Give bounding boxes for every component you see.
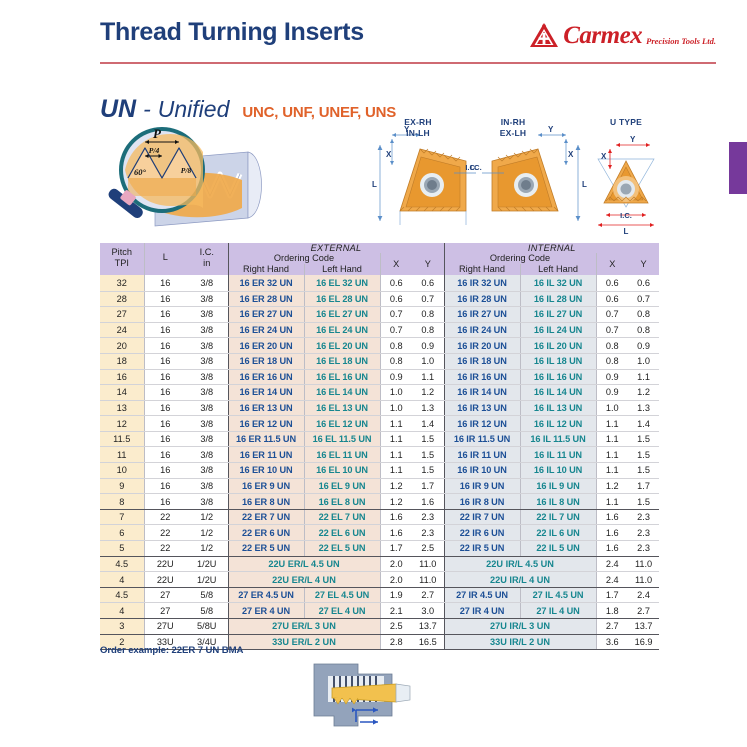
cell-ext-right-hand: 16 ER 9 UN [228, 478, 304, 494]
diagram-label-in-rh: IN-RHEX-LH [478, 117, 548, 138]
svg-text:X: X [568, 150, 574, 159]
cell-ext-y: 11.0 [412, 572, 444, 588]
cell-ic: 1/2U [186, 572, 228, 588]
cell-ic: 3/8 [186, 369, 228, 385]
cell-int-right-hand: 16 IR 18 UN [444, 353, 520, 369]
cell-int-x: 1.0 [596, 400, 628, 416]
table-row: 4.5275/827 ER 4.5 UN27 EL 4.5 UN1.92.727… [100, 587, 659, 603]
cell-ic: 3/8 [186, 447, 228, 463]
cell-ic: 5/8 [186, 603, 228, 619]
cell-ext-right-hand: 16 ER 8 UN [228, 494, 304, 510]
cell-ext-y: 0.8 [412, 322, 444, 338]
cell-int-left-hand: 16 IL 14 UN [520, 385, 596, 401]
cell-pitch: 24 [100, 322, 144, 338]
insert-geometry-diagrams: X Y L I.C. X [358, 115, 658, 235]
cell-ext-left-hand: 27 EL 4 UN [304, 603, 380, 619]
table-row: 4.522U1/2U22U ER/L 4.5 UN2.011.022U IR/L… [100, 556, 659, 572]
col-header-ext-y: Y [412, 253, 444, 275]
svg-text:L: L [582, 180, 587, 189]
table-row: 27163/816 ER 27 UN16 EL 27 UN0.70.816 IR… [100, 307, 659, 323]
cell-ext-y: 0.9 [412, 338, 444, 354]
cell-ext-right-hand: 22 ER 7 UN [228, 509, 304, 525]
cell-ic: 3/8 [186, 385, 228, 401]
cell-ext-x: 0.9 [380, 369, 412, 385]
svg-text:P/8: P/8 [181, 166, 192, 175]
cell-int-left-hand: 16 IL 27 UN [520, 307, 596, 323]
cell-l: 22 [144, 525, 186, 541]
cell-l: 16 [144, 369, 186, 385]
cell-l: 16 [144, 463, 186, 479]
cell-pitch: 8 [100, 494, 144, 510]
cell-int-x: 1.1 [596, 416, 628, 432]
cell-ic: 3/8 [186, 291, 228, 307]
cell-int-x: 1.1 [596, 463, 628, 479]
cell-pitch: 4.5 [100, 556, 144, 572]
cell-pitch: 3 [100, 619, 144, 635]
cell-ext-left-hand: 16 EL 8 UN [304, 494, 380, 510]
cell-ext-y: 2.3 [412, 509, 444, 525]
cell-int-left-hand: 16 IL 20 UN [520, 338, 596, 354]
cell-ext-x: 1.6 [380, 525, 412, 541]
col-header-internal: INTERNAL [444, 243, 659, 253]
cell-ext-x: 0.7 [380, 307, 412, 323]
cell-l: 22 [144, 509, 186, 525]
cell-int-left-hand: 16 IL 24 UN [520, 322, 596, 338]
cell-int-x: 1.6 [596, 509, 628, 525]
col-header-int-y: Y [628, 253, 659, 275]
table-row: 7221/222 ER 7 UN22 EL 7 UN1.62.322 IR 7 … [100, 509, 659, 525]
cell-ic: 5/8 [186, 587, 228, 603]
cell-int-y: 1.7 [628, 478, 659, 494]
cell-int-x: 1.6 [596, 525, 628, 541]
cell-pitch: 10 [100, 463, 144, 479]
cell-pitch: 16 [100, 369, 144, 385]
cell-ext-y: 1.6 [412, 494, 444, 510]
svg-text:P/4: P/4 [149, 146, 160, 155]
cell-int-right-hand: 16 IR 28 UN [444, 291, 520, 307]
cell-int-right-hand: 22 IR 6 UN [444, 525, 520, 541]
cell-ext-y: 1.2 [412, 385, 444, 401]
cell-int-right-hand: 16 IR 8 UN [444, 494, 520, 510]
table-header-group-row: PitchTPI L I.C.in EXTERNAL INTERNAL [100, 243, 659, 253]
cell-int-y: 1.3 [628, 400, 659, 416]
cell-int-left-hand: 27 IL 4.5 UN [520, 587, 596, 603]
cell-ic: 3/8 [186, 494, 228, 510]
cell-int-left-hand: 16 IL 12 UN [520, 416, 596, 432]
cell-pitch: 13 [100, 400, 144, 416]
cell-int-right-hand: 16 IR 32 UN [444, 275, 520, 291]
catalog-page: Thread Turning Inserts Carmex Precision … [0, 0, 747, 747]
cell-ext-left-hand: 16 EL 16 UN [304, 369, 380, 385]
cell-ic: 3/8 [186, 416, 228, 432]
cell-int-right-hand: 16 IR 9 UN [444, 478, 520, 494]
cell-int-y: 2.4 [628, 587, 659, 603]
cell-ext-left-hand: 16 EL 11.5 UN [304, 431, 380, 447]
table-row: 422U1/2U22U ER/L 4 UN2.011.022U IR/L 4 U… [100, 572, 659, 588]
cell-int-y: 0.7 [628, 291, 659, 307]
cell-l: 16 [144, 478, 186, 494]
table-row: 20163/816 ER 20 UN16 EL 20 UN0.80.916 IR… [100, 338, 659, 354]
cell-pitch: 7 [100, 509, 144, 525]
table-row: 11163/816 ER 11 UN16 EL 11 UN1.11.516 IR… [100, 447, 659, 463]
cell-ext-x: 2.0 [380, 572, 412, 588]
cell-int-left-hand: 16 IL 28 UN [520, 291, 596, 307]
diagram-in-rh: X Y L I.C. [465, 125, 587, 221]
cell-int-right-hand: 16 IR 20 UN [444, 338, 520, 354]
cell-ext-right-hand: 16 ER 14 UN [228, 385, 304, 401]
cell-ext-left-hand: 22 EL 6 UN [304, 525, 380, 541]
diagram-ex-rh: X Y L I.C. [372, 125, 482, 225]
cell-int-left-hand: 16 IL 11.5 UN [520, 431, 596, 447]
brand-tagline: Precision Tools Ltd. [646, 37, 716, 49]
cell-ext-y: 2.5 [412, 541, 444, 557]
cell-l: 22U [144, 556, 186, 572]
cell-ext-y: 3.0 [412, 603, 444, 619]
cell-int-x: 3.6 [596, 634, 628, 650]
col-header-ext-ordering-code: Ordering Code [228, 253, 380, 264]
cell-ic: 1/2 [186, 525, 228, 541]
col-header-pitch: PitchTPI [100, 243, 144, 275]
cell-int-y: 1.1 [628, 369, 659, 385]
table-row: 13163/816 ER 13 UN16 EL 13 UN1.01.316 IR… [100, 400, 659, 416]
cell-int-left-hand: 16 IL 18 UN [520, 353, 596, 369]
cell-int-right-hand: 27 IR 4.5 UN [444, 587, 520, 603]
svg-text:L: L [372, 180, 377, 189]
cell-pitch: 5 [100, 541, 144, 557]
cell-int-y: 13.7 [628, 619, 659, 635]
cell-int-y: 2.3 [628, 509, 659, 525]
cell-int-ordering-code: 22U IR/L 4.5 UN [444, 556, 596, 572]
cell-ext-y: 1.0 [412, 353, 444, 369]
table-row: 5221/222 ER 5 UN22 EL 5 UN1.72.522 IR 5 … [100, 541, 659, 557]
cell-int-left-hand: 22 IL 5 UN [520, 541, 596, 557]
cell-int-x: 2.7 [596, 619, 628, 635]
cell-ext-y: 1.5 [412, 463, 444, 479]
cell-l: 16 [144, 447, 186, 463]
cell-int-left-hand: 16 IL 32 UN [520, 275, 596, 291]
svg-text:Y: Y [548, 125, 554, 134]
cell-l: 16 [144, 416, 186, 432]
cell-ext-y: 2.7 [412, 587, 444, 603]
cell-l: 27U [144, 619, 186, 635]
cell-ext-x: 2.0 [380, 556, 412, 572]
cell-ext-right-hand: 16 ER 32 UN [228, 275, 304, 291]
cell-l: 27 [144, 603, 186, 619]
cell-ext-right-hand: 16 ER 27 UN [228, 307, 304, 323]
order-example-note: Order example: 22ER 7 UN BMA [100, 645, 243, 656]
cell-ext-x: 1.7 [380, 541, 412, 557]
cell-ext-left-hand: 16 EL 27 UN [304, 307, 380, 323]
cell-ext-right-hand: 27 ER 4 UN [228, 603, 304, 619]
cell-ext-y: 1.4 [412, 416, 444, 432]
standard-dash: - [143, 96, 151, 123]
diagram-label-u-type: U TYPE [591, 117, 661, 128]
cell-ext-x: 1.1 [380, 447, 412, 463]
cell-int-y: 0.8 [628, 322, 659, 338]
col-header-ext-left-hand: Left Hand [304, 264, 380, 275]
cell-int-left-hand: 22 IL 6 UN [520, 525, 596, 541]
cell-pitch: 4 [100, 603, 144, 619]
cell-int-right-hand: 16 IR 11 UN [444, 447, 520, 463]
standard-code: UN [100, 95, 136, 124]
cell-l: 16 [144, 275, 186, 291]
brand-name: Carmex [563, 23, 642, 48]
cell-ext-x: 1.0 [380, 400, 412, 416]
cell-int-left-hand: 16 IL 8 UN [520, 494, 596, 510]
cell-ext-y: 13.7 [412, 619, 444, 635]
cell-int-y: 16.9 [628, 634, 659, 650]
cell-l: 22U [144, 572, 186, 588]
cell-int-y: 1.4 [628, 416, 659, 432]
col-header-external: EXTERNAL [228, 243, 444, 253]
cell-int-right-hand: 16 IR 13 UN [444, 400, 520, 416]
cell-pitch: 11.5 [100, 431, 144, 447]
cell-ext-y: 2.3 [412, 525, 444, 541]
cell-int-y: 1.2 [628, 385, 659, 401]
cell-int-y: 2.7 [628, 603, 659, 619]
table-row: 16163/816 ER 16 UN16 EL 16 UN0.91.116 IR… [100, 369, 659, 385]
cell-pitch: 11 [100, 447, 144, 463]
diagram-u-type: X Y I.C. L [598, 135, 654, 235]
table-row: 4275/827 ER 4 UN27 EL 4 UN2.13.027 IR 4 … [100, 603, 659, 619]
carmex-emblem-icon [529, 22, 559, 48]
cell-pitch: 4.5 [100, 587, 144, 603]
cell-l: 16 [144, 400, 186, 416]
cell-ext-x: 2.5 [380, 619, 412, 635]
cell-ext-left-hand: 16 EL 9 UN [304, 478, 380, 494]
cell-ext-left-hand: 16 EL 11 UN [304, 447, 380, 463]
cell-l: 16 [144, 385, 186, 401]
table-row: 10163/816 ER 10 UN16 EL 10 UN1.11.516 IR… [100, 463, 659, 479]
cell-int-y: 11.0 [628, 556, 659, 572]
cell-ic: 1/2 [186, 541, 228, 557]
table-row: 12163/816 ER 12 UN16 EL 12 UN1.11.416 IR… [100, 416, 659, 432]
cell-l: 16 [144, 322, 186, 338]
page-header: Thread Turning Inserts Carmex Precision … [100, 18, 716, 60]
cell-ic: 3/8 [186, 338, 228, 354]
cell-int-y: 1.5 [628, 431, 659, 447]
col-header-l: L [144, 243, 186, 275]
table-row: 18163/816 ER 18 UN16 EL 18 UN0.81.016 IR… [100, 353, 659, 369]
cell-ext-x: 1.6 [380, 509, 412, 525]
cell-int-x: 2.4 [596, 572, 628, 588]
cell-ext-x: 0.7 [380, 322, 412, 338]
insert-spec-table: PitchTPI L I.C.in EXTERNAL INTERNAL Orde… [100, 243, 657, 650]
cell-pitch: 18 [100, 353, 144, 369]
col-header-ext-x: X [380, 253, 412, 275]
cell-ic: 3/8 [186, 463, 228, 479]
brand-logo: Carmex Precision Tools Ltd. [529, 22, 716, 48]
svg-text:60°: 60° [134, 167, 147, 177]
cell-pitch: 9 [100, 478, 144, 494]
cell-l: 16 [144, 431, 186, 447]
cell-int-y: 1.5 [628, 494, 659, 510]
cell-int-x: 1.1 [596, 494, 628, 510]
cell-int-x: 0.8 [596, 353, 628, 369]
cell-ext-right-hand: 22 ER 6 UN [228, 525, 304, 541]
col-header-int-left-hand: Left Hand [520, 264, 596, 275]
cell-int-left-hand: 27 IL 4 UN [520, 603, 596, 619]
cell-ext-left-hand: 16 EL 32 UN [304, 275, 380, 291]
cell-int-x: 1.8 [596, 603, 628, 619]
cell-ext-left-hand: 16 EL 20 UN [304, 338, 380, 354]
cell-pitch: 12 [100, 416, 144, 432]
cell-ic: 5/8U [186, 619, 228, 635]
cell-ext-x: 1.2 [380, 494, 412, 510]
cell-pitch: 27 [100, 307, 144, 323]
cell-ext-y: 1.5 [412, 447, 444, 463]
cell-l: 16 [144, 307, 186, 323]
section-tab-marker [729, 142, 747, 194]
col-header-ic: I.C.in [186, 243, 228, 275]
table-row: 11.5163/816 ER 11.5 UN16 EL 11.5 UN1.11.… [100, 431, 659, 447]
cell-ic: 3/8 [186, 353, 228, 369]
cell-ext-ordering-code: 22U ER/L 4.5 UN [228, 556, 380, 572]
cell-int-x: 0.6 [596, 291, 628, 307]
cell-int-y: 11.0 [628, 572, 659, 588]
cell-int-right-hand: 16 IR 12 UN [444, 416, 520, 432]
cell-int-x: 1.1 [596, 431, 628, 447]
cell-ext-ordering-code: 22U ER/L 4 UN [228, 572, 380, 588]
cell-ext-left-hand: 16 EL 12 UN [304, 416, 380, 432]
thread-profile-illustration: P P/4 P/8 60° [100, 122, 355, 234]
cell-ext-y: 16.5 [412, 634, 444, 650]
cell-int-ordering-code: 27U IR/L 3 UN [444, 619, 596, 635]
cell-int-x: 0.6 [596, 275, 628, 291]
cell-ext-left-hand: 16 EL 10 UN [304, 463, 380, 479]
cell-pitch: 20 [100, 338, 144, 354]
cell-int-right-hand: 22 IR 7 UN [444, 509, 520, 525]
cell-ext-right-hand: 16 ER 12 UN [228, 416, 304, 432]
cell-int-x: 0.7 [596, 307, 628, 323]
cell-ext-x: 2.1 [380, 603, 412, 619]
cell-ext-x: 0.8 [380, 338, 412, 354]
cell-ext-ordering-code: 27U ER/L 3 UN [228, 619, 380, 635]
table-row: 14163/816 ER 14 UN16 EL 14 UN1.01.216 IR… [100, 385, 659, 401]
svg-text:I.C.: I.C. [465, 163, 477, 172]
cell-ic: 1/2U [186, 556, 228, 572]
cell-ext-y: 1.5 [412, 431, 444, 447]
table-row: 327U5/8U27U ER/L 3 UN2.513.727U IR/L 3 U… [100, 619, 659, 635]
cell-ext-x: 1.0 [380, 385, 412, 401]
svg-text:X: X [601, 152, 607, 161]
cell-ext-x: 0.6 [380, 291, 412, 307]
cell-int-y: 0.6 [628, 275, 659, 291]
svg-text:Y: Y [630, 135, 636, 144]
standard-name: Unified [158, 96, 230, 123]
cell-int-left-hand: 16 IL 10 UN [520, 463, 596, 479]
cell-l: 16 [144, 291, 186, 307]
cell-ic: 1/2 [186, 509, 228, 525]
cell-ext-x: 1.1 [380, 463, 412, 479]
cell-ext-right-hand: 27 ER 4.5 UN [228, 587, 304, 603]
cell-int-y: 0.8 [628, 307, 659, 323]
cell-int-x: 0.9 [596, 369, 628, 385]
cell-int-x: 1.1 [596, 447, 628, 463]
cell-int-right-hand: 16 IR 24 UN [444, 322, 520, 338]
header-divider [100, 62, 716, 64]
cell-l: 27 [144, 587, 186, 603]
cell-ext-left-hand: 16 EL 13 UN [304, 400, 380, 416]
cell-ext-x: 1.1 [380, 416, 412, 432]
table-row: 24163/816 ER 24 UN16 EL 24 UN0.70.816 IR… [100, 322, 659, 338]
col-header-int-right-hand: Right Hand [444, 264, 520, 275]
cell-int-ordering-code: 33U IR/L 2 UN [444, 634, 596, 650]
col-header-int-x: X [596, 253, 628, 275]
cell-int-right-hand: 16 IR 27 UN [444, 307, 520, 323]
cell-ic: 3/8 [186, 431, 228, 447]
cell-int-right-hand: 16 IR 14 UN [444, 385, 520, 401]
cell-ext-y: 0.7 [412, 291, 444, 307]
cell-l: 16 [144, 338, 186, 354]
cell-int-y: 1.5 [628, 463, 659, 479]
cell-ext-left-hand: 16 EL 14 UN [304, 385, 380, 401]
cell-ext-right-hand: 16 ER 11 UN [228, 447, 304, 463]
cell-ext-left-hand: 16 EL 24 UN [304, 322, 380, 338]
cell-int-ordering-code: 22U IR/L 4 UN [444, 572, 596, 588]
cell-int-y: 1.0 [628, 353, 659, 369]
cell-int-x: 1.7 [596, 587, 628, 603]
cell-int-x: 1.2 [596, 478, 628, 494]
cell-int-x: 1.6 [596, 541, 628, 557]
cell-ext-left-hand: 27 EL 4.5 UN [304, 587, 380, 603]
cell-int-y: 2.3 [628, 525, 659, 541]
cell-ic: 3/8 [186, 275, 228, 291]
cell-int-y: 2.3 [628, 541, 659, 557]
cell-ext-right-hand: 16 ER 24 UN [228, 322, 304, 338]
cell-int-right-hand: 16 IR 10 UN [444, 463, 520, 479]
cell-ext-left-hand: 22 EL 7 UN [304, 509, 380, 525]
cell-ext-y: 1.1 [412, 369, 444, 385]
cell-ext-right-hand: 16 ER 10 UN [228, 463, 304, 479]
table-row: 32163/816 ER 32 UN16 EL 32 UN0.60.616 IR… [100, 275, 659, 291]
cell-ext-y: 0.8 [412, 307, 444, 323]
cell-ic: 3/8 [186, 478, 228, 494]
cell-ic: 3/8 [186, 307, 228, 323]
cell-int-left-hand: 16 IL 13 UN [520, 400, 596, 416]
col-header-int-ordering-code: Ordering Code [444, 253, 596, 264]
cell-int-x: 0.9 [596, 385, 628, 401]
cell-ext-x: 1.1 [380, 431, 412, 447]
cell-ext-left-hand: 16 EL 28 UN [304, 291, 380, 307]
cell-ext-right-hand: 16 ER 11.5 UN [228, 431, 304, 447]
cell-int-right-hand: 22 IR 5 UN [444, 541, 520, 557]
diagram-label-ex-rh: EX-RHIN-LH [383, 117, 453, 138]
cell-int-x: 2.4 [596, 556, 628, 572]
cell-pitch: 4 [100, 572, 144, 588]
cell-pitch: 14 [100, 385, 144, 401]
cell-int-right-hand: 16 IR 16 UN [444, 369, 520, 385]
threading-tool-illustration [300, 660, 420, 740]
svg-text:I.C.: I.C. [620, 211, 632, 220]
cell-int-left-hand: 16 IL 11 UN [520, 447, 596, 463]
cell-int-left-hand: 22 IL 7 UN [520, 509, 596, 525]
cell-int-left-hand: 16 IL 9 UN [520, 478, 596, 494]
cell-ext-y: 0.6 [412, 275, 444, 291]
svg-text:X: X [386, 150, 392, 159]
table-row: 28163/816 ER 28 UN16 EL 28 UN0.60.716 IR… [100, 291, 659, 307]
cell-ext-left-hand: 16 EL 18 UN [304, 353, 380, 369]
col-header-ext-right-hand: Right Hand [228, 264, 304, 275]
cell-ext-x: 0.6 [380, 275, 412, 291]
cell-ext-y: 11.0 [412, 556, 444, 572]
table-row: 9163/816 ER 9 UN16 EL 9 UN1.21.716 IR 9 … [100, 478, 659, 494]
cell-ic: 3/8 [186, 322, 228, 338]
cell-int-y: 1.5 [628, 447, 659, 463]
cell-l: 16 [144, 353, 186, 369]
thread-standard-heading: UN - Unified UNC, UNF, UNEF, UNS [100, 95, 396, 124]
table-row: 8163/816 ER 8 UN16 EL 8 UN1.21.616 IR 8 … [100, 494, 659, 510]
